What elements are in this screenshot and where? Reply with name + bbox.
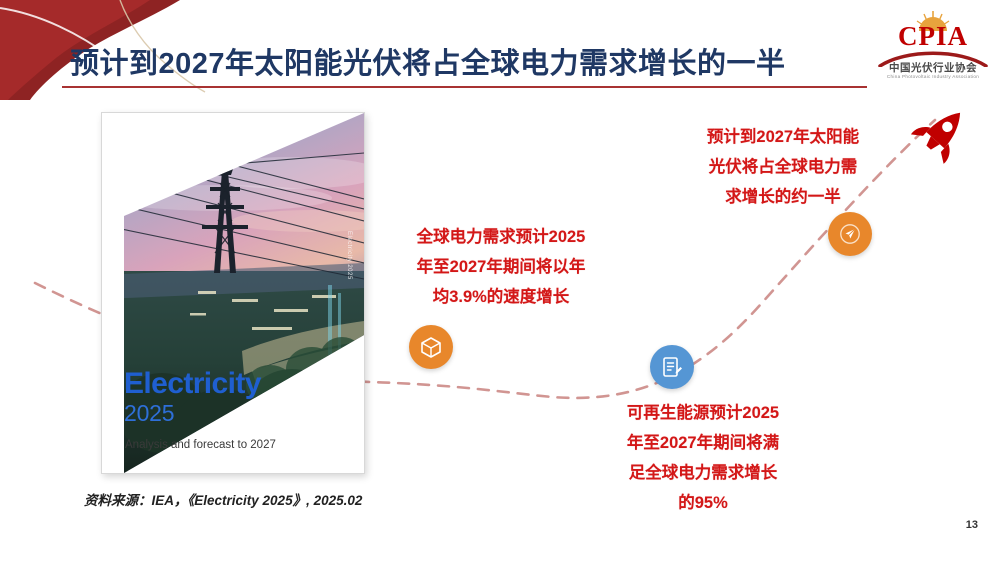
marker-renewables-share[interactable] — [650, 345, 694, 389]
page-number: 13 — [966, 519, 978, 531]
logo-wordmark: CPIA — [874, 21, 992, 52]
page-title: 预计到2027年太阳能光伏将占全球电力需求增长的一半 — [70, 40, 786, 82]
callout-solar-pv-half: 预计到2027年太阳能 光伏将占全球电力需 求增长的约一半 — [678, 122, 888, 212]
marker-demand-growth[interactable] — [409, 325, 453, 369]
callout-renewables-share: 可再生能源预计2025 年至2027年期间将满 足全球电力需求增长 的95% — [592, 398, 814, 518]
cpia-logo: CPIA 中国光伏行业协会 China Photovoltaic Industr… — [874, 4, 992, 88]
rocket-icon — [905, 100, 975, 170]
cover-spine-text: Electricity 2025 — [346, 231, 352, 280]
title-underline — [62, 86, 867, 88]
logo-chinese-name: 中国光伏行业协会 — [874, 60, 992, 75]
cover-year: 2025 — [124, 400, 174, 427]
cover-subtitle: Analysis and forecast to 2027 — [125, 439, 276, 451]
paper-plane-icon — [838, 222, 862, 246]
callout-demand-growth: 全球电力需求预计2025 年至2027年期间将以年 均3.9%的速度增长 — [390, 222, 612, 312]
iea-report-cover: iea Electricity 2025 Electricity 2025 An… — [101, 112, 365, 474]
source-note: 资料来源：IEA，《Electricity 2025》, 2025.02 — [84, 489, 362, 509]
document-edit-icon — [660, 355, 684, 379]
logo-english-name: China Photovoltaic Industry Association — [874, 74, 992, 79]
cube-icon — [419, 335, 443, 359]
cover-title: Electricity — [124, 367, 261, 401]
slide-canvas: 预计到2027年太阳能光伏将占全球电力需求增长的一半 CPIA 中国光伏行业协会… — [0, 0, 1000, 562]
marker-solar-pv-half[interactable] — [828, 212, 872, 256]
iea-logo: iea — [122, 131, 161, 160]
